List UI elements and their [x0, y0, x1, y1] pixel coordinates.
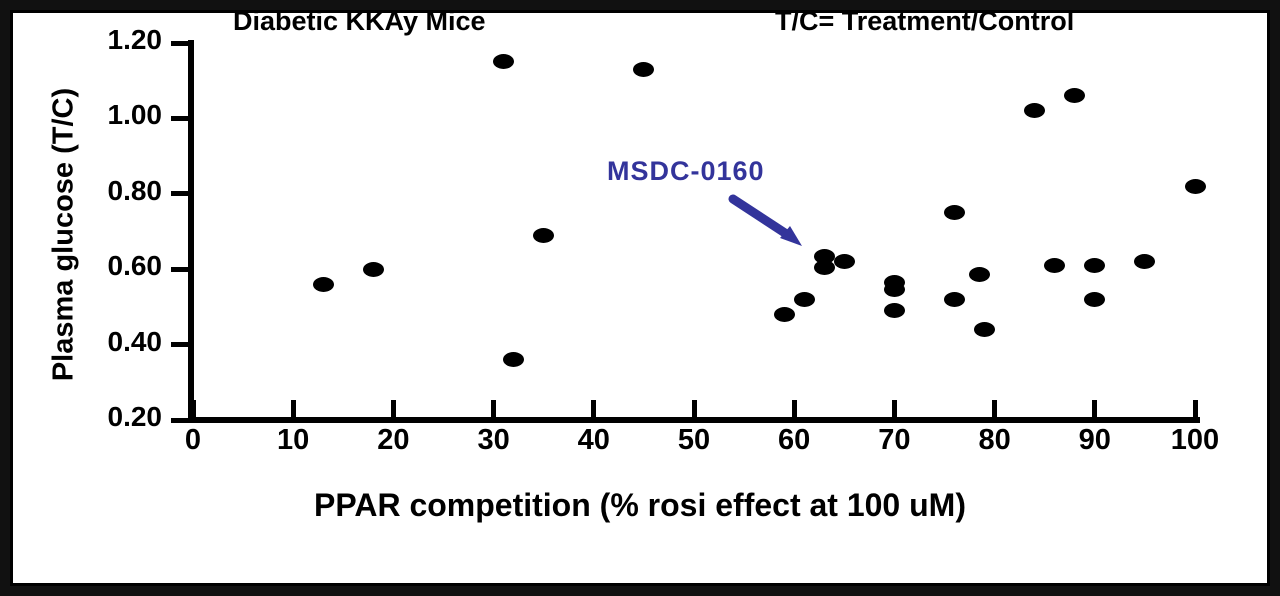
figure-page: Diabetic KKAy Mice T/C= Treatment/Contro… [0, 0, 1280, 596]
y-tick-label: 1.00 [72, 99, 162, 131]
y-tick [171, 342, 189, 347]
scatter-point [944, 292, 965, 307]
x-tick-label: 90 [1050, 424, 1140, 457]
scatter-point [1084, 292, 1105, 307]
scatter-point [814, 260, 835, 275]
scatter-point [884, 282, 905, 297]
y-tick-label: 1.20 [72, 24, 162, 56]
scatter-point [1044, 258, 1065, 273]
y-tick [171, 418, 189, 423]
x-tick-label: 100 [1150, 424, 1240, 457]
scatter-point [774, 307, 795, 322]
x-tick-label: 40 [549, 424, 639, 457]
x-tick-label: 70 [849, 424, 939, 457]
scatter-point [1084, 258, 1105, 273]
plot-area [193, 43, 1195, 420]
scatter-point [974, 322, 995, 337]
scatter-point [363, 262, 384, 277]
x-tick-label: 80 [950, 424, 1040, 457]
y-tick [171, 191, 189, 196]
x-tick-label: 60 [749, 424, 839, 457]
y-tick [171, 267, 189, 272]
y-tick-label: 0.80 [72, 175, 162, 207]
scatter-point [1134, 254, 1155, 269]
y-tick-label: 0.40 [72, 326, 162, 358]
x-axis-title: PPAR competition (% rosi effect at 100 u… [0, 487, 1280, 524]
annotation-label-msdc-0160: MSDC-0160 [607, 156, 765, 187]
scatter-point [1185, 179, 1206, 194]
y-tick [171, 116, 189, 121]
y-tick [171, 41, 189, 46]
y-tick-label: 0.60 [72, 250, 162, 282]
x-tick-label: 50 [649, 424, 739, 457]
x-tick-label: 0 [148, 424, 238, 457]
x-tick-label: 10 [248, 424, 338, 457]
scatter-point [884, 303, 905, 318]
scatter-point [834, 254, 855, 269]
chart-title-left: Diabetic KKAy Mice [233, 6, 486, 37]
scatter-point [1024, 103, 1045, 118]
chart-title-right: T/C= Treatment/Control [775, 6, 1074, 37]
scatter-point [633, 62, 654, 77]
scatter-point [944, 205, 965, 220]
scatter-point [313, 277, 334, 292]
scatter-point [1064, 88, 1085, 103]
scatter-point [794, 292, 815, 307]
scatter-point [969, 267, 990, 282]
scatter-point [493, 54, 514, 69]
scatter-point [503, 352, 524, 367]
x-tick-label: 20 [348, 424, 438, 457]
x-tick-label: 30 [449, 424, 539, 457]
scatter-point [533, 228, 554, 243]
